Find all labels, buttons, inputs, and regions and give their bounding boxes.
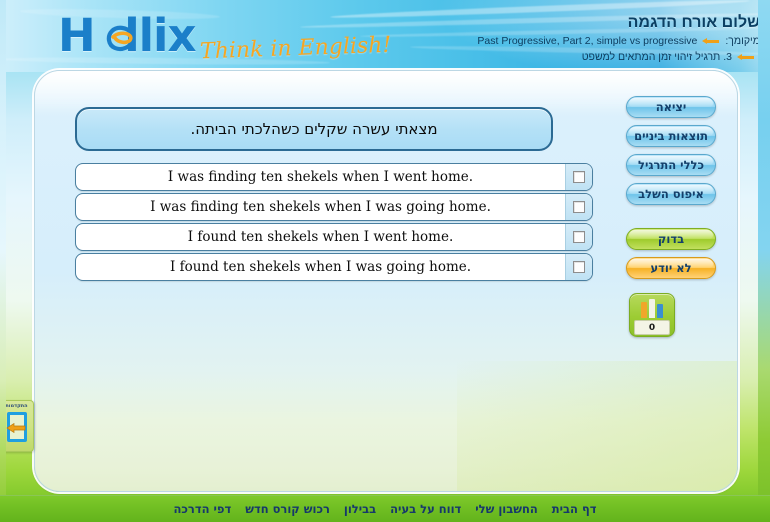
breadcrumb-arrow-icon <box>737 54 755 61</box>
score-value: 0 <box>634 320 670 335</box>
footer-navigation: דף הבית החשבון שלי דווח על בעיה בבילון ר… <box>0 495 770 522</box>
reset-stage-button[interactable]: איפוס השלב <box>626 183 716 205</box>
greeting-text: שלום אורח הדגמה <box>477 14 760 32</box>
footer-link-home[interactable]: דף הבית <box>552 502 597 516</box>
answer-options-list: I was finding ten shekels when I went ho… <box>75 163 593 283</box>
breadcrumb-course-label[interactable]: Past Progressive, Part 2, simple vs prog… <box>477 35 697 48</box>
exit-button-label: יציאה <box>656 100 687 114</box>
breadcrumb-location-label: מיקומך: <box>725 35 760 48</box>
application-window: Hellix Think in English! שלום אורח הדגמה… <box>0 0 770 522</box>
back-arrow-glyph <box>6 423 26 433</box>
progress-side-tab[interactable]: התקדמות <box>0 400 34 452</box>
right-edge-strip <box>758 0 770 522</box>
exercise-rules-button[interactable]: כללי התרגיל <box>626 154 716 176</box>
answer-option-label[interactable]: I was finding ten shekels when I was goi… <box>76 199 565 215</box>
reset-stage-button-label: איפוס השלב <box>638 187 704 201</box>
breadcrumb-exercise: 3. תרגיל זיהוי זמן המתאים למשפט <box>477 51 760 64</box>
footer-link-babylon[interactable]: בבילון <box>344 502 376 516</box>
answer-option-row[interactable]: I found ten shekels when I went home. <box>75 223 593 251</box>
exercise-rules-button-label: כללי התרגיל <box>638 158 704 172</box>
bar-chart-bar <box>649 299 655 318</box>
logo-wordmark: Hellix <box>58 14 196 58</box>
logo-letter-h: H <box>58 9 95 62</box>
sidebar-spacer <box>616 212 716 228</box>
answer-option-checkbox-cell[interactable] <box>565 224 592 250</box>
dont-know-button-label: לא יודע <box>650 261 691 275</box>
bar-chart-icon <box>634 298 670 318</box>
score-widget[interactable]: 0 <box>629 293 675 337</box>
answer-option-label[interactable]: I found ten shekels when I was going hom… <box>76 259 565 275</box>
answer-option-checkbox-cell[interactable] <box>565 164 592 190</box>
question-box: מצאתי עשרה שקלים כשהלכתי הביתה. <box>75 107 553 151</box>
bar-chart-bar <box>657 304 663 318</box>
interim-results-button-label: תוצאות ביניים <box>634 129 708 143</box>
answer-option-row[interactable]: I was finding ten shekels when I went ho… <box>75 163 593 191</box>
brand-logo[interactable]: Hellix Think in English! <box>58 14 196 62</box>
checkbox-icon[interactable] <box>573 171 585 183</box>
dont-know-button[interactable]: לא יודע <box>626 257 716 279</box>
answer-option-label[interactable]: I found ten shekels when I went home. <box>76 229 565 245</box>
logo-tagline: Think in English! <box>200 33 392 65</box>
interim-results-button[interactable]: תוצאות ביניים <box>626 125 716 147</box>
bar-chart-bar <box>641 302 647 318</box>
footer-link-my-account[interactable]: החשבון שלי <box>475 502 538 516</box>
answer-option-checkbox-cell[interactable] <box>565 254 592 280</box>
check-button[interactable]: בדוק <box>626 228 716 250</box>
breadcrumb-arrow-icon <box>702 38 720 45</box>
answer-option-row[interactable]: I was finding ten shekels when I was goi… <box>75 193 593 221</box>
back-arrow-icon <box>4 411 30 445</box>
check-button-label: בדוק <box>658 232 684 246</box>
footer-link-report-problem[interactable]: דווח על בעיה <box>390 502 461 516</box>
panel-corner-decoration <box>457 361 738 492</box>
breadcrumb-exercise-label[interactable]: 3. תרגיל זיהוי זמן המתאים למשפט <box>582 51 732 64</box>
answer-option-checkbox-cell[interactable] <box>565 194 592 220</box>
answer-option-label[interactable]: I was finding ten shekels when I went ho… <box>76 169 565 185</box>
breadcrumb-course: מיקומך: Past Progressive, Part 2, simple… <box>477 35 760 48</box>
header-user-area: שלום אורח הדגמה מיקומך: Past Progressive… <box>477 14 760 64</box>
checkbox-icon[interactable] <box>573 231 585 243</box>
footer-link-buy-new-course[interactable]: רכוש קורס חדש <box>245 502 330 516</box>
exercise-panel: מצאתי עשרה שקלים כשהלכתי הביתה. I was fi… <box>34 70 738 492</box>
question-text: מצאתי עשרה שקלים כשהלכתי הביתה. <box>190 120 437 138</box>
logo-e-swirl-icon <box>104 22 138 56</box>
exit-button[interactable]: יציאה <box>626 96 716 118</box>
progress-side-tab-label: התקדמות <box>0 403 33 410</box>
checkbox-icon[interactable] <box>573 261 585 273</box>
footer-link-guides[interactable]: דפי הדרכה <box>174 502 232 516</box>
answer-option-row[interactable]: I found ten shekels when I was going hom… <box>75 253 593 281</box>
page-header: Hellix Think in English! שלום אורח הדגמה… <box>0 0 770 72</box>
checkbox-icon[interactable] <box>573 201 585 213</box>
exercise-sidebar: יציאה תוצאות ביניים כללי התרגיל איפוס הש… <box>616 96 716 286</box>
